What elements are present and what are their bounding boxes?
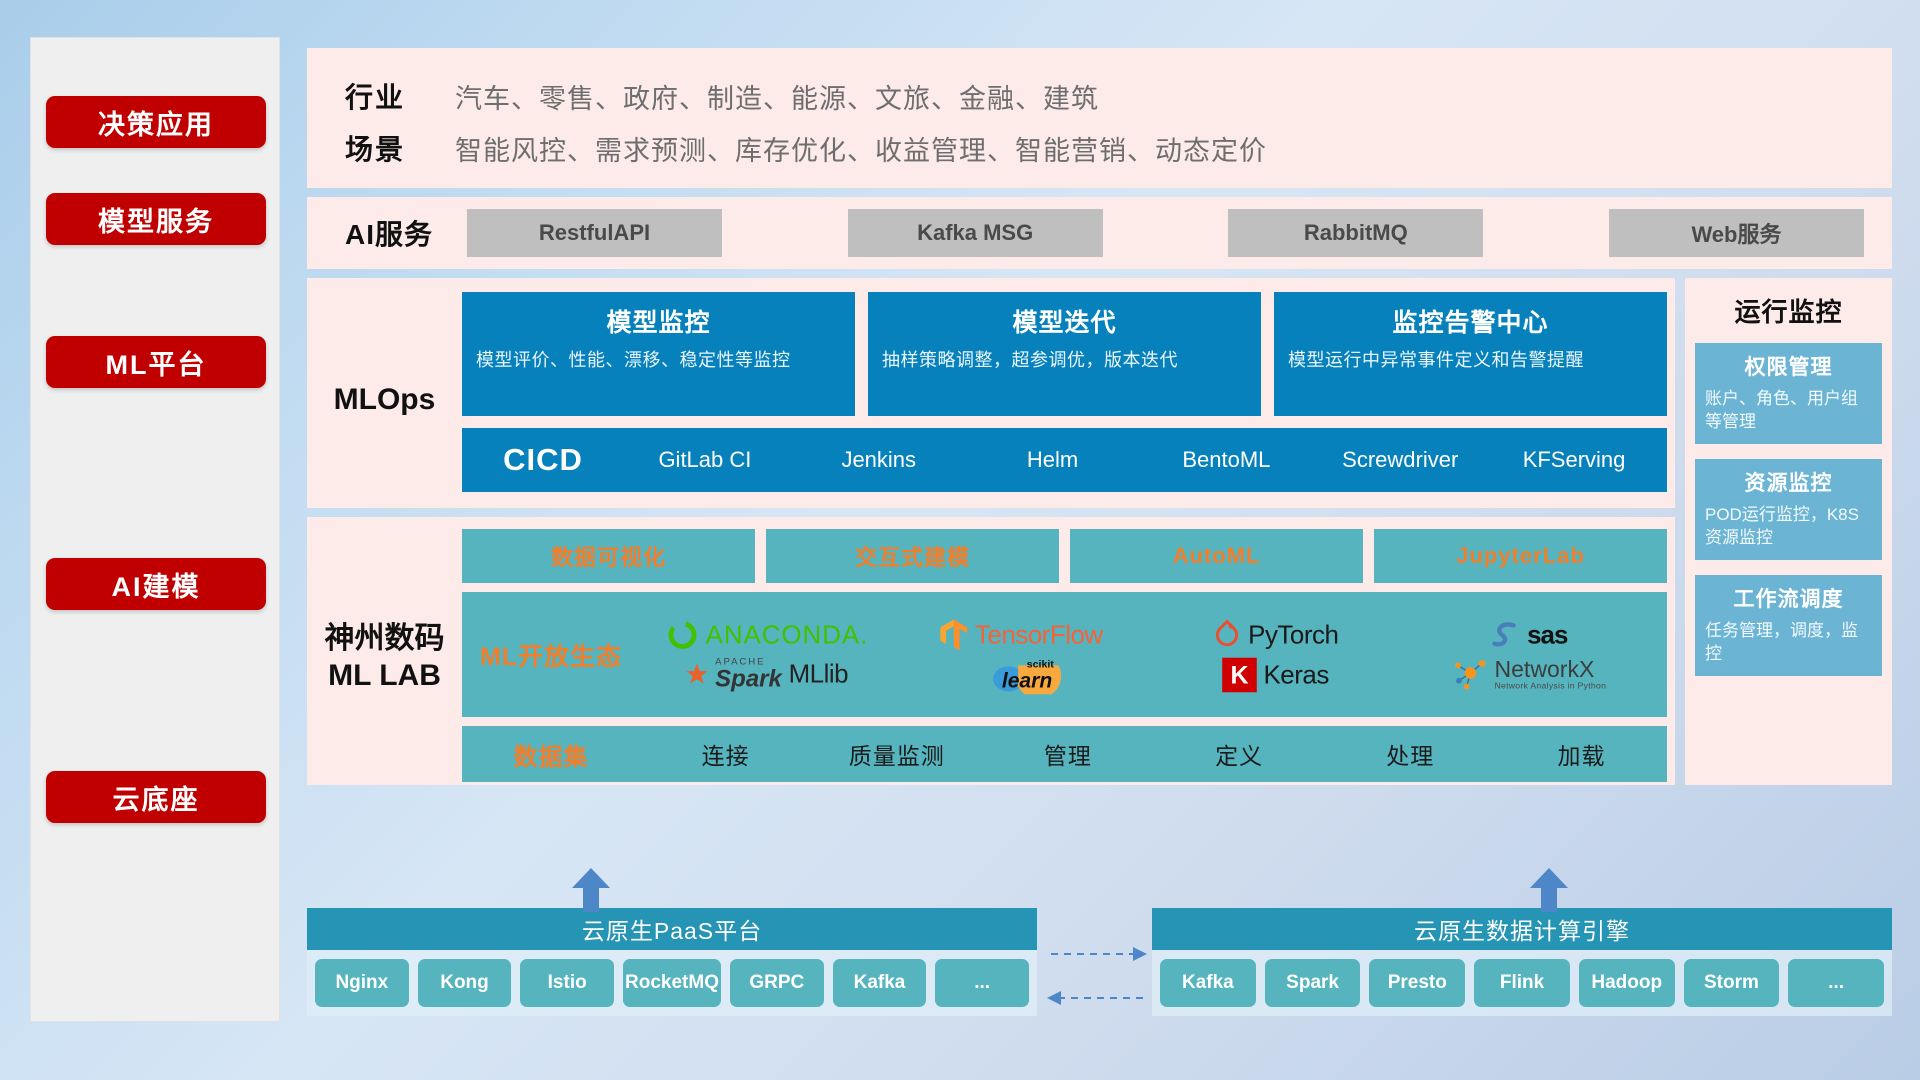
networkx-tagline: Network Analysis in Python [1495, 682, 1607, 691]
scikit-learn-logo: scikit learn [989, 655, 1053, 693]
mllab-label-line2: ML LAB [328, 659, 441, 692]
mlops-card-desc: 模型运行中异常事件定义和告警提醒 [1288, 348, 1653, 374]
ai-service-band: AI服务 RestfulAPI Kafka MSG RabbitMQ Web服务 [307, 197, 1892, 269]
rail-chip-cloud-base[interactable]: 云底座 [46, 771, 266, 823]
monitor-card-desc: 任务管理，调度，监控 [1705, 619, 1872, 666]
cloud-paas-chip-list: Nginx Kong Istio RocketMQ GRPC Kafka ... [307, 950, 1037, 1016]
tensorflow-mark-icon [940, 617, 969, 652]
rail-chip-model-service[interactable]: 模型服务 [46, 193, 266, 245]
compute-chip-presto[interactable]: Presto [1369, 959, 1465, 1007]
cloud-foundation-section: 云原生PaaS平台 Nginx Kong Istio RocketMQ GRPC… [307, 880, 1892, 1050]
runtime-monitor-title: 运行监控 [1695, 292, 1882, 329]
compute-chip-spark[interactable]: Spark [1265, 959, 1361, 1007]
mlops-card-model-iteration[interactable]: 模型迭代 抽样策略调整，超参调优，版本迭代 [868, 292, 1261, 416]
business-band: 行业 汽车、零售、政府、制造、能源、文旅、金融、建筑 场景 智能风控、需求预测、… [307, 48, 1892, 188]
ml-ecosystem-panel: ML开放生态 ANACONDA. [462, 592, 1667, 717]
bidirectional-connector [1047, 940, 1147, 1010]
business-row-industry: 行业 汽车、零售、政府、制造、能源、文旅、金融、建筑 [345, 70, 1892, 122]
dataset-item-define[interactable]: 定义 [1154, 737, 1325, 771]
cloud-chip-nginx[interactable]: Nginx [315, 959, 409, 1007]
mllib-logo-text: MLlib [789, 660, 849, 690]
dataset-item-load[interactable]: 加载 [1496, 737, 1667, 771]
cloud-compute-title: 云原生数据计算引擎 [1152, 908, 1892, 950]
compute-chip-storm[interactable]: Storm [1684, 959, 1780, 1007]
tensorflow-logo: TensorFlow [940, 617, 1103, 652]
dataset-item-quality[interactable]: 质量监测 [811, 737, 982, 771]
sas-logo-text: sas [1527, 620, 1567, 650]
monitor-card-workflow[interactable]: 工作流调度 任务管理，调度，监控 [1695, 575, 1882, 676]
mlops-label: MLOps [307, 292, 462, 508]
monitor-card-resource[interactable]: 资源监控 POD运行监控，K8S资源监控 [1695, 459, 1882, 560]
cloud-compute-chip-list: Kafka Spark Presto Flink Hadoop Storm ..… [1152, 950, 1892, 1016]
cicd-item-jenkins[interactable]: Jenkins [792, 448, 966, 471]
ai-chip-kafka-msg[interactable]: Kafka MSG [848, 209, 1103, 257]
ml-ecosystem-label: ML开放生态 [462, 637, 640, 673]
compute-chip-flink[interactable]: Flink [1474, 959, 1570, 1007]
cicd-item-screwdriver[interactable]: Screwdriver [1313, 448, 1487, 471]
rail-chip-ai-modeling[interactable]: AI建模 [46, 558, 266, 610]
business-row-scenario: 场景 智能风控、需求预测、库存优化、收益管理、智能营销、动态定价 [345, 122, 1892, 174]
mlops-card-list: 模型监控 模型评价、性能、漂移、稳定性等监控 模型迭代 抽样策略调整，超参调优，… [462, 292, 1667, 416]
keras-mark-icon: K [1222, 657, 1257, 692]
networkx-logo: NetworkX Network Analysis in Python [1453, 658, 1606, 691]
mlops-card-desc: 模型评价、性能、漂移、稳定性等监控 [476, 348, 841, 374]
sas-logo: sas [1492, 619, 1568, 650]
dataset-item-manage[interactable]: 管理 [982, 737, 1153, 771]
cicd-item-gitlab-ci[interactable]: GitLab CI [618, 448, 792, 471]
arrow-up-compute-icon [1530, 868, 1568, 912]
pytorch-logo: PyTorch [1213, 618, 1339, 651]
cloud-chip-istio[interactable]: Istio [520, 959, 614, 1007]
platform-left: MLOps 模型监控 模型评价、性能、漂移、稳定性等监控 模型迭代 抽样策略调整… [307, 278, 1675, 785]
cloud-chip-kafka[interactable]: Kafka [833, 959, 927, 1007]
mllab-label-line1: 神州数码 [325, 622, 445, 655]
ai-service-chip-list: RestfulAPI Kafka MSG RabbitMQ Web服务 [455, 209, 1892, 257]
cloud-chip-kong[interactable]: Kong [418, 959, 512, 1007]
scenario-label: 场景 [345, 128, 455, 168]
cloud-paas-column: 云原生PaaS平台 Nginx Kong Istio RocketMQ GRPC… [307, 908, 1037, 1016]
main-column: 行业 汽车、零售、政府、制造、能源、文旅、金融、建筑 场景 智能风控、需求预测、… [307, 48, 1892, 785]
mllab-tab-automl[interactable]: AutoML [1070, 529, 1363, 583]
anaconda-logo: ANACONDA. [666, 618, 868, 651]
spark-mllib-logo: APACHE Spark MLlib [686, 658, 849, 692]
dataset-bar: 数据集 连接 质量监测 管理 定义 处理 加载 [462, 726, 1667, 782]
tensorflow-logo-text: TensorFlow [975, 620, 1103, 650]
cloud-chip-grpc[interactable]: GRPC [730, 959, 824, 1007]
pytorch-mark-icon [1213, 618, 1242, 651]
ai-chip-restfulapi[interactable]: RestfulAPI [467, 209, 722, 257]
compute-chip-hadoop[interactable]: Hadoop [1579, 959, 1675, 1007]
industry-value: 汽车、零售、政府、制造、能源、文旅、金融、建筑 [455, 77, 1099, 116]
dataset-label: 数据集 [462, 737, 640, 772]
anaconda-mark-icon [666, 618, 699, 651]
ai-chip-rabbitmq[interactable]: RabbitMQ [1228, 209, 1483, 257]
cicd-item-list: GitLab CI Jenkins Helm BentoML Screwdriv… [618, 448, 1661, 471]
ml-ecosystem-logo-grid: ANACONDA. TensorFlow [640, 615, 1667, 695]
compute-chip-more[interactable]: ... [1788, 959, 1884, 1007]
mlops-card-alert-center[interactable]: 监控告警中心 模型运行中异常事件定义和告警提醒 [1274, 292, 1667, 416]
diagram-canvas: 决策应用 模型服务 ML平台 AI建模 云底座 行业 汽车、零售、政府、制造、能… [0, 0, 1920, 1080]
cicd-item-helm[interactable]: Helm [966, 448, 1140, 471]
cicd-label: CICD [468, 442, 618, 478]
dataset-item-list: 连接 质量监测 管理 定义 处理 加载 [640, 737, 1667, 771]
mllab-tab-interactive-modeling[interactable]: 交互式建模 [766, 529, 1059, 583]
cloud-compute-column: 云原生数据计算引擎 Kafka Spark Presto Flink Hadoo… [1152, 908, 1892, 1016]
mlops-card-title: 监控告警中心 [1288, 303, 1653, 339]
rail-chip-ml-platform[interactable]: ML平台 [46, 336, 266, 388]
platform-section: MLOps 模型监控 模型评价、性能、漂移、稳定性等监控 模型迭代 抽样策略调整… [307, 278, 1892, 785]
cloud-paas-title: 云原生PaaS平台 [307, 908, 1037, 950]
mlops-card-model-monitoring[interactable]: 模型监控 模型评价、性能、漂移、稳定性等监控 [462, 292, 855, 416]
mlops-band: MLOps 模型监控 模型评价、性能、漂移、稳定性等监控 模型迭代 抽样策略调整… [307, 278, 1675, 508]
sas-mark-icon [1492, 619, 1521, 650]
dataset-item-process[interactable]: 处理 [1325, 737, 1496, 771]
cicd-item-bentoml[interactable]: BentoML [1139, 448, 1313, 471]
spark-logo-text: Spark [716, 667, 783, 691]
arrow-up-paas-icon [572, 868, 610, 912]
cloud-chip-rocketmq[interactable]: RocketMQ [623, 959, 721, 1007]
mlops-content: 模型监控 模型评价、性能、漂移、稳定性等监控 模型迭代 抽样策略调整，超参调优，… [462, 292, 1675, 508]
networkx-mark-icon [1453, 658, 1488, 691]
cicd-bar: CICD GitLab CI Jenkins Helm BentoML Scre… [462, 428, 1667, 492]
runtime-monitor-panel: 运行监控 权限管理 账户、角色、用户组等管理 资源监控 POD运行监控，K8S资… [1685, 278, 1892, 785]
networkx-logo-text: NetworkX [1495, 658, 1607, 682]
keras-logo-text: Keras [1264, 660, 1329, 690]
monitor-card-desc: POD运行监控，K8S资源监控 [1705, 503, 1872, 550]
mllab-label: 神州数码 ML LAB [307, 529, 462, 785]
monitor-card-title: 资源监控 [1705, 467, 1872, 497]
monitor-card-permission[interactable]: 权限管理 账户、角色、用户组等管理 [1695, 343, 1882, 444]
mlops-card-desc: 抽样策略调整，超参调优，版本迭代 [882, 348, 1247, 374]
dataset-item-connect[interactable]: 连接 [640, 737, 811, 771]
mllab-tab-list: 数据可视化 交互式建模 AutoML JupyterLab [462, 529, 1667, 583]
monitor-card-title: 权限管理 [1705, 351, 1872, 381]
learn-text: learn [1002, 669, 1054, 690]
compute-chip-kafka[interactable]: Kafka [1160, 959, 1256, 1007]
ai-chip-web-service[interactable]: Web服务 [1609, 209, 1864, 257]
rail-chip-decision[interactable]: 决策应用 [46, 96, 266, 148]
mllab-content: 数据可视化 交互式建模 AutoML JupyterLab ML开放生态 [462, 529, 1675, 785]
monitor-card-desc: 账户、角色、用户组等管理 [1705, 387, 1872, 434]
industry-label: 行业 [345, 76, 455, 116]
scenario-value: 智能风控、需求预测、库存优化、收益管理、智能营销、动态定价 [455, 129, 1267, 168]
pytorch-logo-text: PyTorch [1248, 620, 1338, 650]
mlops-card-title: 模型监控 [476, 303, 841, 339]
cloud-chip-more[interactable]: ... [935, 959, 1029, 1007]
cicd-item-kfserving[interactable]: KFServing [1487, 448, 1661, 471]
mllab-tab-data-visualization[interactable]: 数据可视化 [462, 529, 755, 583]
mllab-tab-jupyterlab[interactable]: JupyterLab [1374, 529, 1667, 583]
mllab-band: 神州数码 ML LAB 数据可视化 交互式建模 AutoML JupyterLa… [307, 517, 1675, 785]
layer-rail: 决策应用 模型服务 ML平台 AI建模 云底座 [30, 37, 280, 1022]
anaconda-logo-text: ANACONDA. [705, 620, 868, 650]
monitor-card-title: 工作流调度 [1705, 583, 1872, 613]
spark-star-icon [686, 662, 709, 687]
ai-service-label: AI服务 [345, 213, 455, 253]
mlops-card-title: 模型迭代 [882, 303, 1247, 339]
keras-logo: K Keras [1222, 657, 1329, 692]
